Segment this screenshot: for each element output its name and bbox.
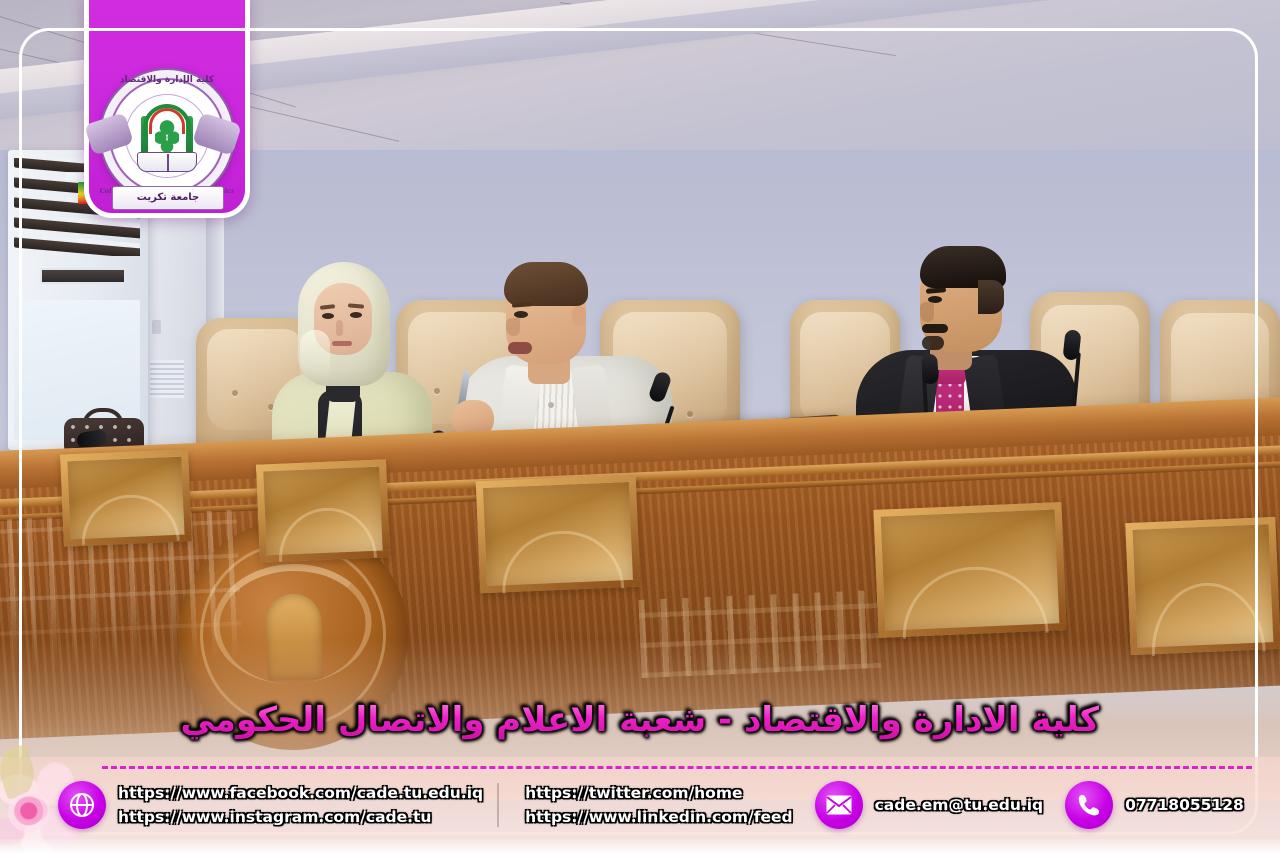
seal-open-book-icon bbox=[137, 152, 197, 172]
social-links-group-2: https://twitter.com/home https://www.lin… bbox=[525, 783, 792, 828]
eye bbox=[322, 313, 334, 319]
linkedin-link[interactable]: https://www.linkedin.com/feed bbox=[525, 807, 792, 828]
seal-university-banner: جامعة تكريت bbox=[112, 186, 224, 210]
footer-bottom-edge bbox=[0, 839, 1280, 853]
instagram-link[interactable]: https://www.instagram.com/cade.tu bbox=[118, 807, 483, 828]
caption-bar: كلية الادارة والاقتصاد - شعبة الاعلام وا… bbox=[0, 686, 1280, 754]
seal-arabic-text: كلية الإدارة والاقتصاد bbox=[99, 75, 235, 85]
beard bbox=[922, 336, 944, 350]
speaker-hair bbox=[504, 262, 588, 306]
phone-icon[interactable] bbox=[1065, 781, 1113, 829]
door-vent bbox=[150, 360, 184, 398]
phone-number[interactable]: 07718055128 bbox=[1125, 795, 1244, 816]
footer-divider bbox=[497, 783, 499, 827]
eye bbox=[514, 311, 528, 318]
footer-contact-row: https://www.facebook.com/cade.tu.edu.iq … bbox=[0, 761, 1280, 849]
hijab-fold bbox=[300, 330, 330, 386]
page-title: كلية الادارة والاقتصاد - شعبة الاعلام وا… bbox=[181, 698, 1100, 742]
nose bbox=[920, 302, 934, 322]
mouth bbox=[332, 341, 352, 346]
desk-inlay-panel bbox=[60, 449, 192, 546]
mouth-speaking bbox=[508, 342, 532, 354]
desk-inlay-panel bbox=[256, 459, 390, 562]
door-knob bbox=[152, 320, 161, 334]
twitter-link[interactable]: https://twitter.com/home bbox=[525, 783, 792, 804]
moustache bbox=[922, 324, 948, 333]
envelope-icon[interactable] bbox=[815, 781, 863, 829]
phone-group: 07718055128 bbox=[1125, 795, 1244, 816]
social-links-group-1: https://www.facebook.com/cade.tu.edu.iq … bbox=[118, 783, 483, 828]
eye bbox=[350, 312, 362, 318]
poster-root: hp bbox=[0, 0, 1280, 853]
globe-icon[interactable] bbox=[58, 781, 106, 829]
desk-inlay-panel bbox=[1125, 517, 1280, 655]
desk-inlay-panel bbox=[873, 502, 1066, 638]
nose bbox=[336, 320, 343, 336]
nose bbox=[506, 318, 520, 336]
hair-fade bbox=[978, 280, 1004, 314]
email-address[interactable]: cade.em@tu.edu.iq bbox=[875, 795, 1044, 816]
facebook-link[interactable]: https://www.facebook.com/cade.tu.edu.iq bbox=[118, 783, 483, 804]
email-group: cade.em@tu.edu.iq bbox=[875, 795, 1044, 816]
microphone-head bbox=[921, 353, 939, 384]
ac-display-panel bbox=[40, 268, 126, 284]
ear bbox=[572, 306, 586, 326]
desk-inlay-panel bbox=[476, 475, 641, 594]
seal-tree-icon bbox=[155, 120, 179, 154]
